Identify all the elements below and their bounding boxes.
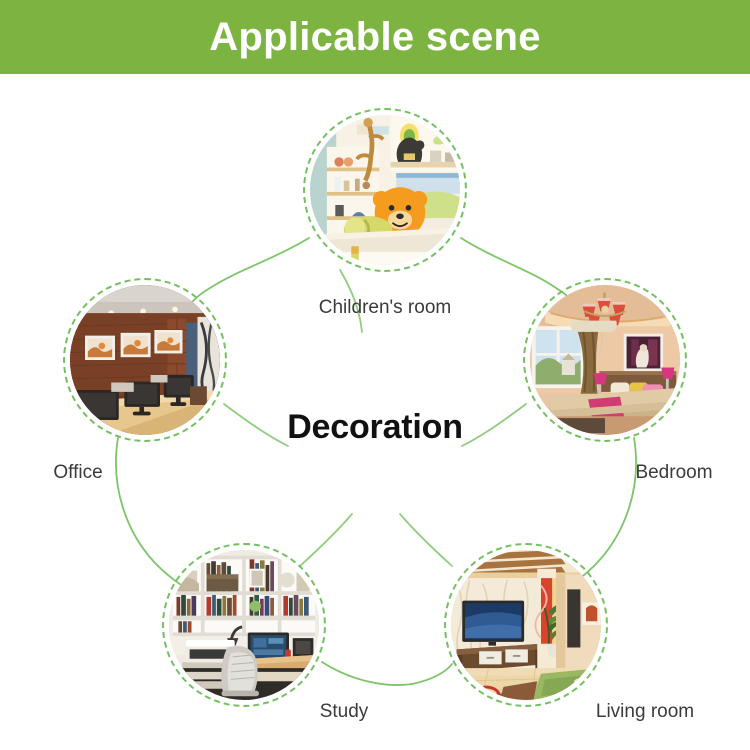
node-children-room[interactable] [303,108,467,272]
node-bedroom[interactable] [523,278,687,442]
node-label-bedroom: Bedroom [608,463,740,482]
applicable-scene-infographic: Applicable scene [0,0,750,750]
office-ring [63,278,227,442]
connector-study-living [322,662,412,685]
node-label-office: Office [20,463,136,482]
diagram-stage: Decoration [0,74,750,750]
page-title: Applicable scene [209,17,541,57]
node-label-study: Study [292,702,396,721]
node-study[interactable] [162,543,326,707]
study-ring [162,543,326,707]
node-label-living-room: Living room [580,702,710,721]
children-room-ring [303,108,467,272]
node-office[interactable] [63,278,227,442]
connector-office-study [116,438,158,566]
living-room-ring [444,543,608,707]
node-living-room[interactable] [444,543,608,707]
bedroom-ring [523,278,687,442]
header-band: Applicable scene [0,0,750,74]
node-label-children-room: Children's room [303,298,467,317]
